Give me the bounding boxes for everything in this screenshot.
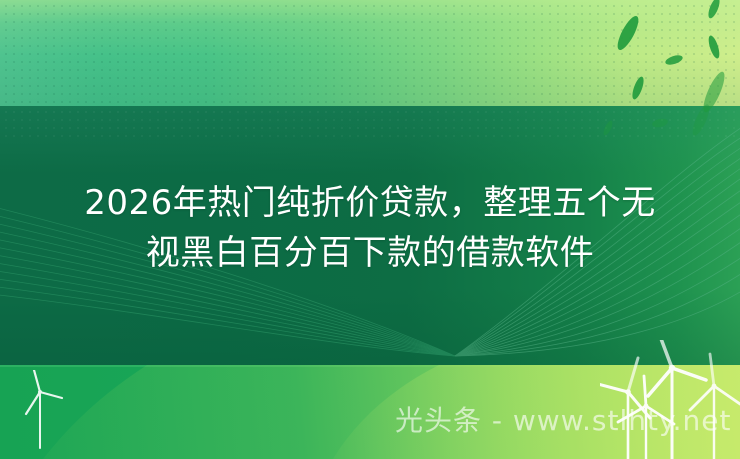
promo-banner: 2026年热门纯折价贷款，整理五个无 视黑白百分百下款的借款软件 光头条 - w…: [0, 0, 740, 459]
page-title: 2026年热门纯折价贷款，整理五个无 视黑白百分百下款的借款软件: [0, 178, 740, 278]
watermark-text: 光头条 - www.stlhty.net: [395, 404, 731, 438]
dot-pattern-overlay: [0, 0, 740, 106]
mid-dot-pattern-overlay: [0, 106, 740, 140]
